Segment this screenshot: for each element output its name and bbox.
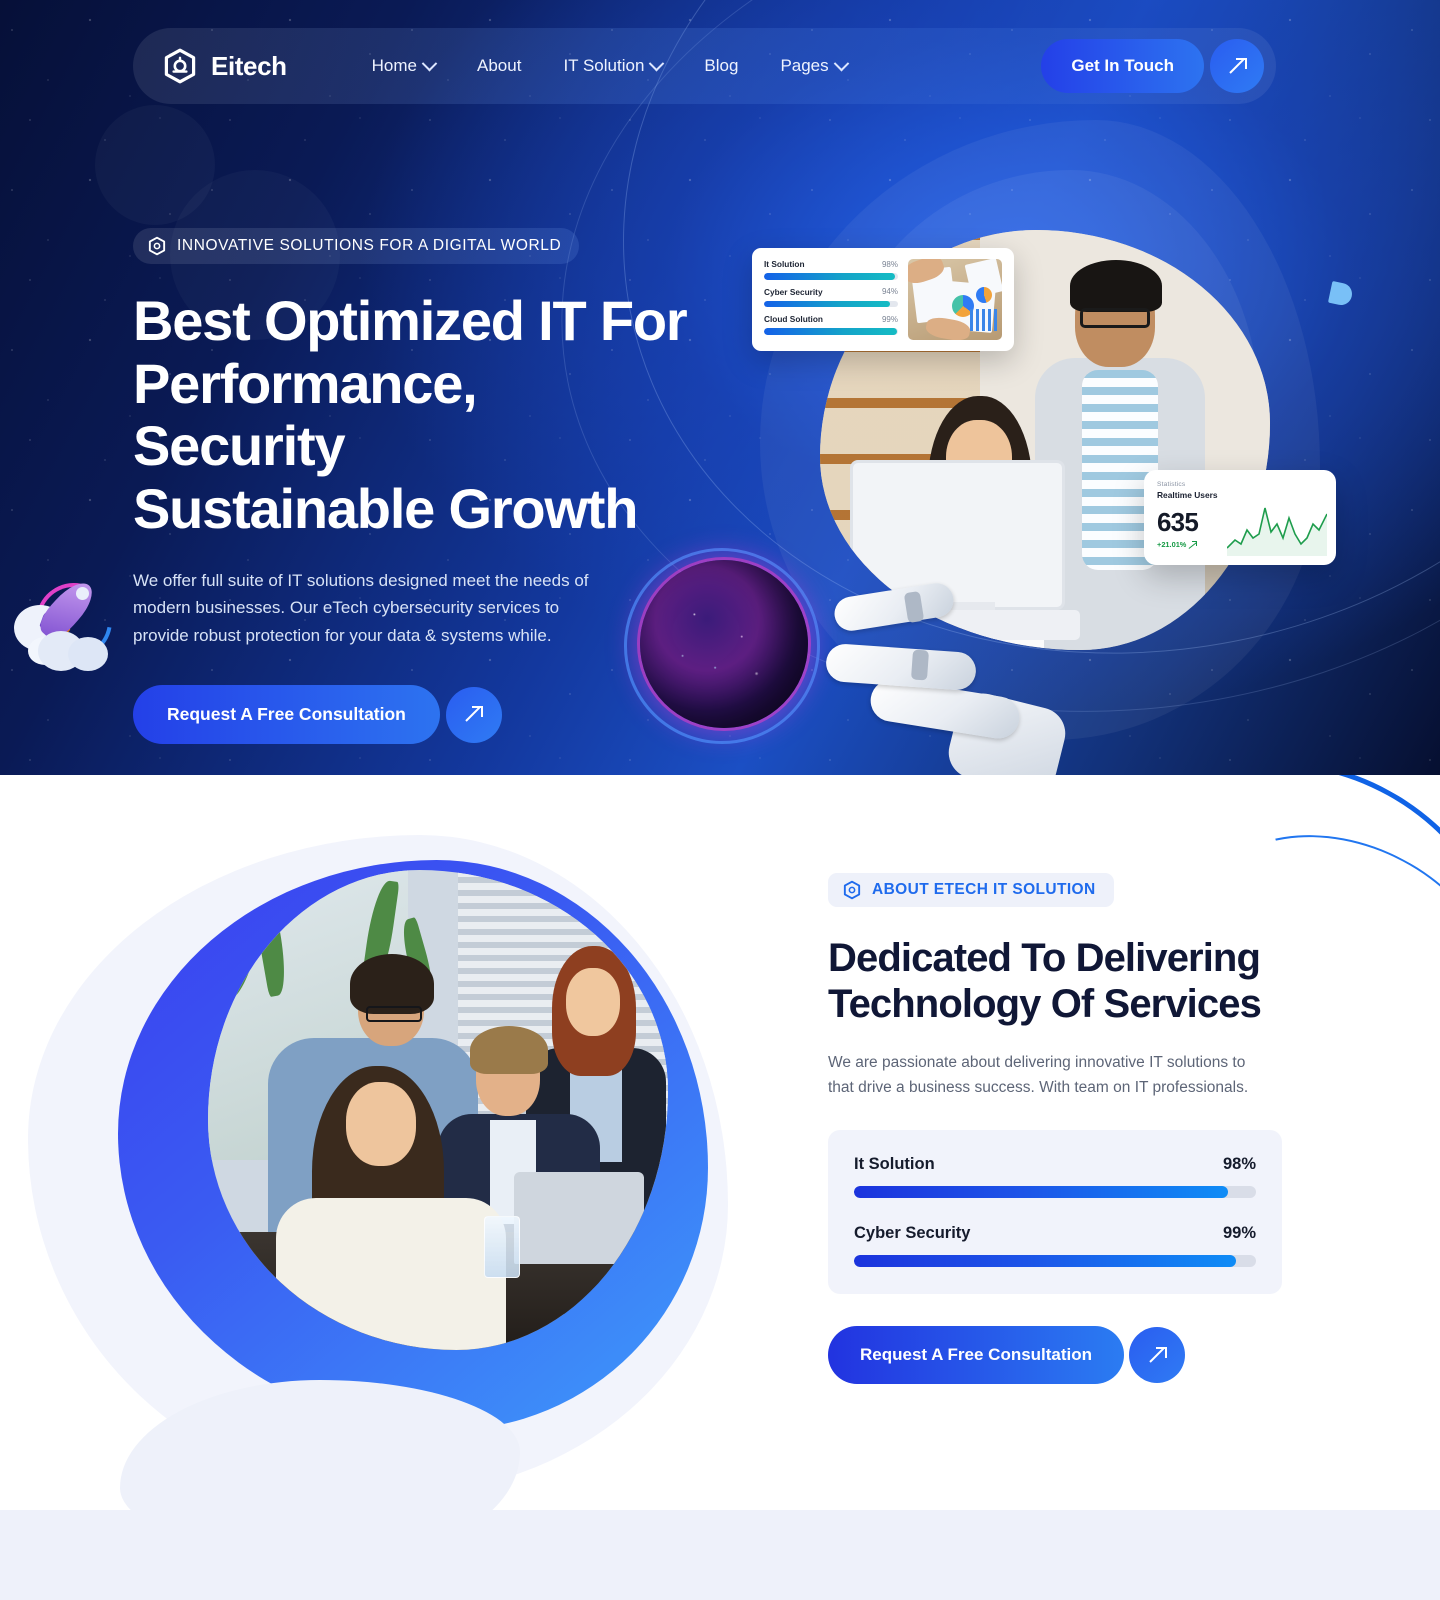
skill-percent: 98% (882, 260, 898, 269)
hero-heading: Best Optimized IT For Performance, Secur… (133, 290, 693, 541)
hero-heading-line-1: Best Optimized IT For (133, 289, 687, 352)
skill-row: Cyber Security 94% (764, 287, 898, 308)
skill-track (764, 301, 898, 308)
about-heading-line-2: Technology Of Services (828, 982, 1261, 1026)
sparkline-chart (1227, 504, 1327, 556)
hero-content: INNOVATIVE SOLUTIONS FOR A DIGITAL WORLD… (133, 228, 693, 744)
about-consultation-button[interactable]: Request A Free Consultation (828, 1326, 1124, 1384)
about-cta-group: Request A Free Consultation (828, 1326, 1288, 1384)
skill-percent: 99% (882, 315, 898, 324)
about-badge-text: ABOUT ETECH IT SOLUTION (872, 881, 1096, 899)
chevron-down-icon (833, 55, 849, 71)
nav-label: Home (372, 56, 417, 76)
chevron-down-icon (422, 55, 438, 71)
statistics-kicker: Statistics (1157, 481, 1323, 488)
hero-skills-card: It Solution 98% Cyber Security 94% Cloud… (752, 248, 1014, 351)
hero-paragraph: We offer full suite of IT solutions desi… (133, 567, 603, 650)
nav-item-blog[interactable]: Blog (704, 56, 738, 76)
skill-percent: 94% (882, 287, 898, 296)
main-navigation-bar: Eitech Home About IT Solution Blog (133, 28, 1276, 104)
hero-heading-line-3: Sustainable Growth (133, 477, 637, 540)
about-consultation-arrow-button[interactable] (1129, 1327, 1185, 1383)
hero-consultation-arrow-button[interactable] (446, 687, 502, 743)
progress-percent: 98% (1223, 1155, 1256, 1174)
skill-label: Cyber Security (764, 287, 823, 297)
robot-hand-graphic (820, 578, 1040, 775)
hex-node-icon (842, 880, 862, 900)
brand-logo[interactable]: Eitech (161, 47, 287, 85)
hero-heading-line-2: Performance, Security (133, 352, 477, 478)
arrow-up-right-icon (1229, 58, 1246, 75)
hero-cta-group: Request A Free Consultation (133, 685, 693, 744)
hero-badge: INNOVATIVE SOLUTIONS FOR A DIGITAL WORLD (133, 228, 579, 264)
hero-badge-text: INNOVATIVE SOLUTIONS FOR A DIGITAL WORLD (177, 237, 561, 255)
about-content: ABOUT ETECH IT SOLUTION Dedicated To Del… (828, 873, 1288, 1384)
skill-label: It Solution (764, 259, 805, 269)
skill-track (764, 328, 898, 335)
get-in-touch-button[interactable]: Get In Touch (1041, 39, 1204, 93)
skill-row: Cloud Solution 99% (764, 314, 898, 335)
hero-section: It Solution 98% Cyber Security 94% Cloud… (0, 0, 1440, 775)
skill-label: Cloud Solution (764, 314, 823, 324)
nav-item-pages[interactable]: Pages (780, 56, 846, 76)
skill-track (764, 273, 898, 280)
nav-label: About (477, 56, 521, 76)
chevron-down-icon (649, 55, 665, 71)
nav-cta-group: Get In Touch (1041, 39, 1264, 93)
progress-percent: 99% (1223, 1224, 1256, 1243)
about-team-photo (208, 870, 668, 1350)
brand-name: Eitech (211, 51, 287, 82)
statistics-title: Realtime Users (1157, 490, 1323, 500)
about-heading: Dedicated To Delivering Technology Of Se… (828, 935, 1288, 1028)
about-heading-line-1: Dedicated To Delivering (828, 936, 1260, 980)
progress-track (854, 1255, 1256, 1267)
hero-statistics-card: Statistics Realtime Users 635 +21.01% (1144, 470, 1336, 565)
progress-row-cyber-security: Cyber Security 99% (854, 1224, 1256, 1267)
progress-label: Cyber Security (854, 1224, 970, 1243)
footer-strip (0, 1510, 1440, 1600)
nav-item-about[interactable]: About (477, 56, 521, 76)
trend-up-icon (1189, 541, 1197, 549)
hex-node-icon (161, 47, 199, 85)
nav-label: Blog (704, 56, 738, 76)
hero-consultation-button[interactable]: Request A Free Consultation (133, 685, 440, 744)
nav-label: Pages (780, 56, 828, 76)
landing-page: It Solution 98% Cyber Security 94% Cloud… (0, 0, 1440, 1600)
nav-links: Home About IT Solution Blog Pages (372, 56, 847, 76)
get-in-touch-arrow-button[interactable] (1210, 39, 1264, 93)
skill-row: It Solution 98% (764, 259, 898, 280)
arrow-up-right-icon (465, 706, 482, 723)
nav-item-home[interactable]: Home (372, 56, 435, 76)
progress-label: It Solution (854, 1155, 935, 1174)
hex-node-icon (147, 236, 167, 256)
about-progress-card: It Solution 98% Cyber Security 99% (828, 1130, 1282, 1294)
progress-track (854, 1186, 1256, 1198)
nav-item-it-solution[interactable]: IT Solution (563, 56, 662, 76)
progress-row-it-solution: It Solution 98% (854, 1155, 1256, 1198)
arrow-up-right-icon (1149, 1347, 1166, 1364)
about-paragraph: We are passionate about delivering innov… (828, 1050, 1266, 1100)
statistics-delta-text: +21.01% (1157, 540, 1186, 549)
nav-label: IT Solution (563, 56, 644, 76)
about-badge: ABOUT ETECH IT SOLUTION (828, 873, 1114, 907)
skills-card-thumbnail (908, 259, 1002, 340)
